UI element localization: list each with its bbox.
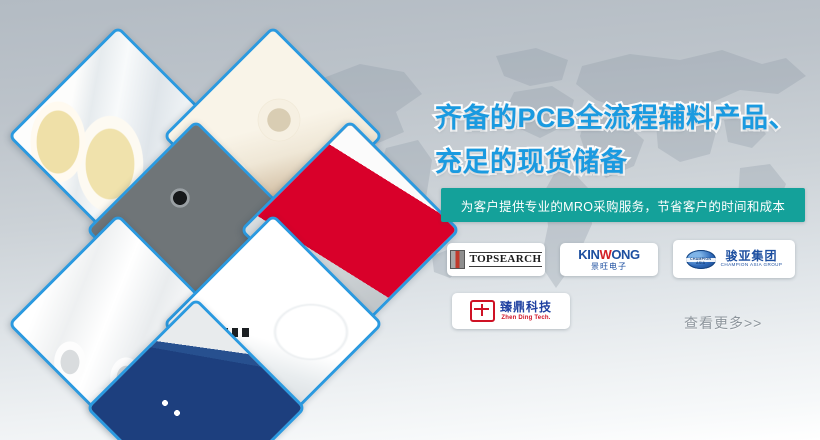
logo-badge-kinwong[interactable]: KINWONG 景旺电子: [560, 243, 658, 276]
subtitle-text: 为客户提供专业的MRO采购服务，节省客户的时间和成本: [461, 196, 785, 215]
champion-asia-globe-icon: CHAMPION ASIA: [686, 250, 716, 269]
headline-line-2: 充足的现货储备: [435, 140, 628, 179]
zhen-ding-label-en: Zhen Ding Tech.: [500, 315, 552, 321]
logo-badge-champion-asia[interactable]: CHAMPION ASIA 骏亚集团 CHAMPION ASIA GROUP: [673, 240, 795, 278]
logo-badge-topsearch[interactable]: TOPSEARCH: [447, 243, 545, 276]
topsearch-label: TOPSEARCH: [469, 252, 543, 268]
kinwong-w: W: [599, 247, 611, 262]
champion-asia-label-cn: 骏亚集团: [721, 250, 783, 263]
kinwong-kin: KIN: [578, 247, 599, 262]
subtitle-bar: 为客户提供专业的MRO采购服务，节省客户的时间和成本: [441, 188, 805, 222]
headline-line-1: 齐备的PCB全流程辅料产品、: [435, 96, 796, 135]
champion-asia-label-en: CHAMPION ASIA GROUP: [721, 263, 783, 268]
topsearch-building-icon: [450, 250, 465, 269]
kinwong-ong: ONG: [611, 247, 639, 262]
view-more-link[interactable]: 查看更多>>: [684, 313, 762, 333]
champion-asia-globe-text: CHAMPION ASIA: [686, 258, 716, 265]
zhen-ding-emblem-icon: [470, 300, 495, 322]
zhen-ding-label-cn: 臻鼎科技: [500, 301, 552, 314]
kinwong-label-en: KINWONG: [578, 248, 640, 261]
promo-banner: 齐备的PCB全流程辅料产品、 充足的现货储备 为客户提供专业的MRO采购服务，节…: [0, 0, 820, 440]
kinwong-label-cn: 景旺电子: [578, 263, 640, 271]
banner-text-panel: 齐备的PCB全流程辅料产品、 充足的现货储备 为客户提供专业的MRO采购服务，节…: [420, 0, 820, 440]
logo-badge-zhen-ding[interactable]: 臻鼎科技 Zhen Ding Tech.: [452, 293, 570, 329]
product-diamond-collage: [0, 0, 420, 440]
